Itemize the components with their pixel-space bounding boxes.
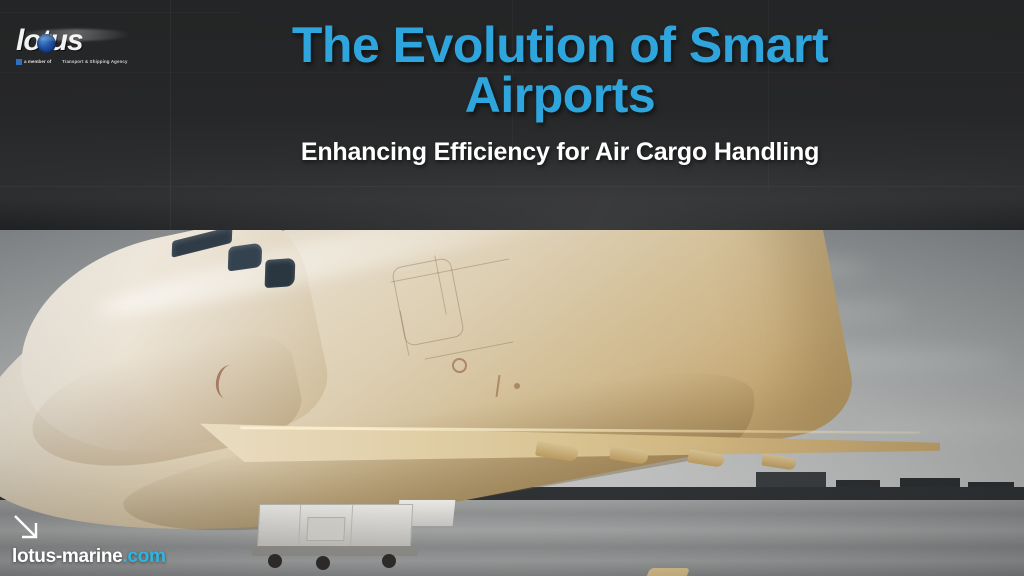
cockpit-window bbox=[228, 242, 263, 271]
logo-tagline-prefix: a member of bbox=[24, 59, 51, 64]
logo-tagline-badge-icon bbox=[16, 59, 22, 65]
website-url-name: lotus-marine bbox=[12, 546, 122, 567]
overlay-gridline bbox=[0, 186, 1024, 187]
container-seam bbox=[298, 505, 301, 549]
page-subtitle: Enhancing Efficiency for Air Cargo Handl… bbox=[130, 138, 990, 166]
engine-pylon bbox=[634, 568, 690, 576]
cargo-container-dolly bbox=[257, 504, 413, 550]
website-url-tld: .com bbox=[122, 546, 165, 567]
page-title: The Evolution of Smart Airports bbox=[130, 20, 990, 120]
title-line-2: Airports bbox=[130, 70, 990, 120]
dolly-wheel bbox=[268, 554, 282, 568]
website-url[interactable]: lotus-marine.com bbox=[12, 546, 166, 568]
arrow-down-right-icon bbox=[12, 513, 42, 543]
cockpit-window bbox=[265, 258, 296, 288]
lotus-logo[interactable]: lotus a member of Transport & Shipping A… bbox=[16, 26, 136, 68]
dolly-wheel bbox=[316, 556, 330, 570]
container-seam bbox=[350, 505, 353, 549]
container-hatch bbox=[306, 517, 345, 541]
flap-track-fairing bbox=[761, 453, 796, 470]
dolly-wheel bbox=[382, 554, 396, 568]
fuselage-marking bbox=[514, 383, 520, 389]
title-line-1: The Evolution of Smart bbox=[130, 20, 990, 70]
banner: lotus a member of Transport & Shipping A… bbox=[0, 0, 1024, 576]
logo-swoosh-icon bbox=[16, 29, 132, 41]
overlay-gridline bbox=[0, 12, 240, 13]
footer[interactable]: lotus-marine.com bbox=[12, 513, 252, 567]
